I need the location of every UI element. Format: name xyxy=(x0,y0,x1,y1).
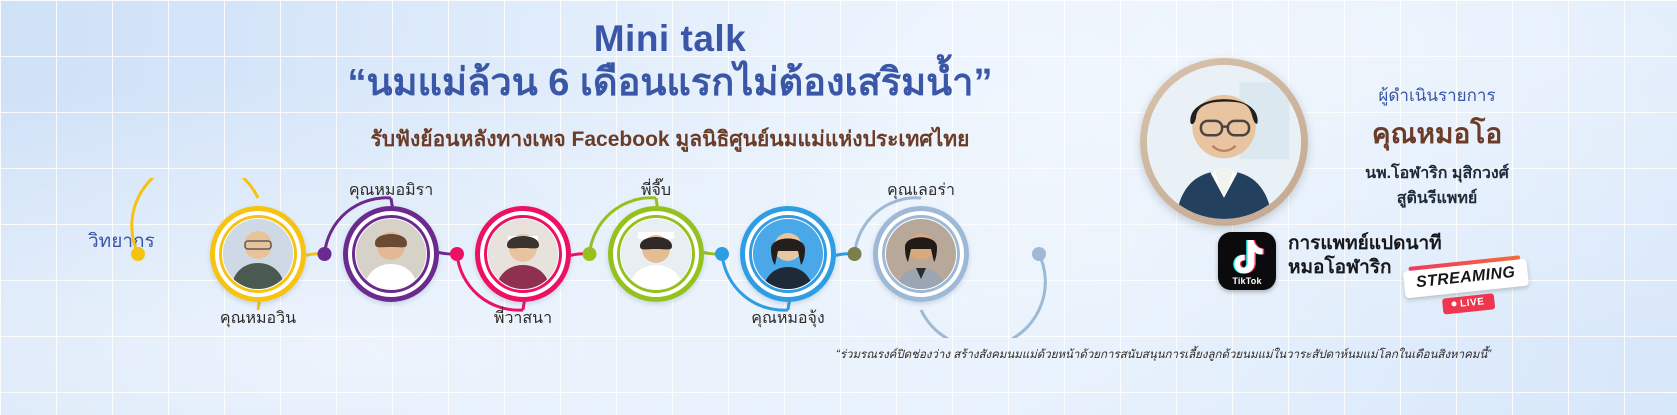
speaker-item[interactable]: พี่จี๊บ xyxy=(608,206,704,302)
streaming-label: STREAMING xyxy=(1415,264,1516,292)
speaker-ring xyxy=(608,206,704,302)
channel-name-line1: การแพทย์แปดนาที xyxy=(1288,232,1442,256)
speaker-avatar xyxy=(753,219,823,289)
host-name: คุณหมอโอ xyxy=(1322,112,1552,156)
speaker-ring xyxy=(475,206,571,302)
speaker-avatar xyxy=(488,219,558,289)
host-specialty: สูตินรีแพทย์ xyxy=(1322,186,1552,211)
speaker-item[interactable]: คุณหมอวิน xyxy=(210,206,306,302)
speaker-ring xyxy=(210,206,306,302)
live-dot-icon xyxy=(1452,301,1457,306)
streaming-pill: STREAMING xyxy=(1403,259,1529,299)
speaker-name: พี่จี๊บ xyxy=(556,178,756,203)
speaker-item[interactable]: พี่วาสนา xyxy=(475,206,571,302)
speaker-item[interactable]: คุณเลอร่า xyxy=(873,206,969,302)
speaker-name: คุณหมอวิน xyxy=(158,306,358,331)
connector-node xyxy=(131,247,145,261)
speaker-ring xyxy=(873,206,969,302)
speaker-avatar xyxy=(886,219,956,289)
connector-node xyxy=(318,247,332,261)
speaker-rail: วิทยากร คุณหมอวิน คุณ xyxy=(0,178,1060,338)
tiktok-wordmark: TikTok xyxy=(1218,276,1276,286)
speaker-ring xyxy=(343,206,439,302)
title-quote: “นมแม่ล้วน 6 เดือนแรกไม่ต้องเสริมน้ำ” xyxy=(280,61,1060,107)
live-label: LIVE xyxy=(1460,296,1486,310)
speaker-avatar xyxy=(621,219,691,289)
speaker-name: คุณเลอร่า xyxy=(821,178,1021,203)
tiktok-icon[interactable]: TikTok xyxy=(1218,232,1276,290)
speaker-item[interactable]: คุณหมอจุ้ง xyxy=(740,206,836,302)
host-avatar xyxy=(1147,65,1301,219)
speaker-ring xyxy=(740,206,836,302)
streaming-badge[interactable]: STREAMING LIVE xyxy=(1403,259,1531,319)
title-block: Mini talk “นมแม่ล้วน 6 เดือนแรกไม่ต้องเส… xyxy=(280,18,1060,156)
host-avatar-frame xyxy=(1140,58,1308,226)
speaker-avatar xyxy=(223,219,293,289)
connector-node xyxy=(848,247,862,261)
promo-banner: Mini talk “นมแม่ล้วน 6 เดือนแรกไม่ต้องเส… xyxy=(0,0,1677,415)
page-subtitle: รับฟังย้อนหลังทางเพจ Facebook มูลนิธิศูน… xyxy=(280,123,1060,156)
speaker-name: คุณหมอจุ้ง xyxy=(688,306,888,331)
host-text: ผู้ดำเนินรายการ คุณหมอโอ นพ.โอฬาริก มุสิ… xyxy=(1322,82,1552,211)
footer-note: “ร่วมรณรงค์ปิดช่องว่าง สร้างสังคมนมแม่ด้… xyxy=(836,346,1491,364)
live-chip: LIVE xyxy=(1442,293,1495,314)
connector-node xyxy=(715,247,729,261)
host-fullname: นพ.โอฬาริก มุสิกวงศ์ xyxy=(1322,161,1552,186)
connector-node xyxy=(450,247,464,261)
connector-node xyxy=(583,247,597,261)
connector-node xyxy=(1032,247,1046,261)
page-title: Mini talk xyxy=(280,18,1060,59)
speaker-name: พี่วาสนา xyxy=(423,306,623,331)
speaker-item[interactable]: คุณหมอมิรา xyxy=(343,206,439,302)
speaker-name: คุณหมอมิรา xyxy=(291,178,491,203)
speaker-avatar xyxy=(356,219,426,289)
host-role: ผู้ดำเนินรายการ xyxy=(1322,82,1552,109)
